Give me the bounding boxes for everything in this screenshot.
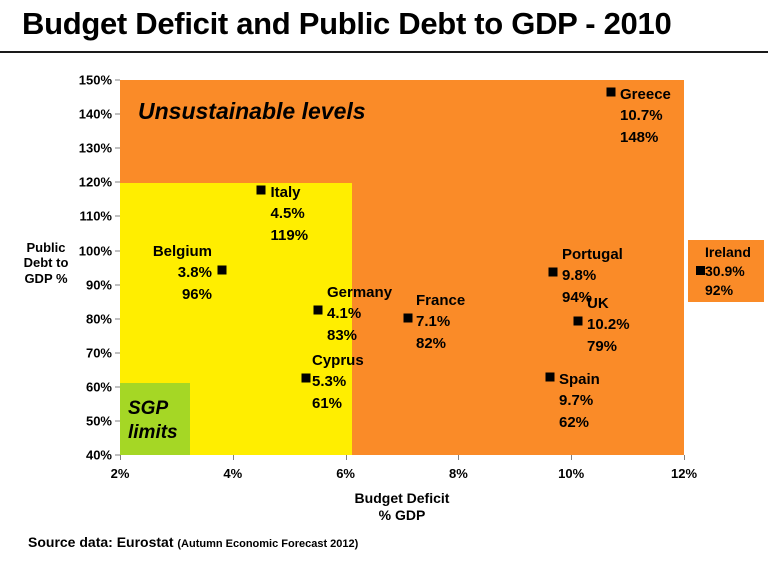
title-bar: Budget Deficit and Public Debt to GDP - … [0, 0, 768, 53]
data-label-italy: Italy 4.5% 119% [271, 182, 309, 246]
x-axis-title-line-1: Budget Deficit [355, 490, 450, 506]
data-point-germany[interactable] [314, 306, 323, 315]
data-label-ireland: Ireland 30.9% 92% [705, 243, 751, 300]
label-debt-spain: 62% [559, 412, 600, 433]
data-point-cyprus[interactable] [302, 374, 311, 383]
label-deficit-portugal: 9.8% [562, 265, 623, 286]
unsustainable-levels-label: Unsustainable levels [138, 98, 366, 125]
x-tick-mark [346, 455, 347, 460]
label-name-ireland: Ireland [705, 244, 751, 260]
label-name-france: France [416, 290, 465, 311]
label-name-germany: Germany [327, 282, 392, 303]
y-tick-label-150: 150% [79, 73, 112, 88]
label-deficit-greece: 10.7% [620, 105, 671, 126]
data-point-uk[interactable] [574, 317, 583, 326]
label-name-uk: UK [587, 293, 630, 314]
label-deficit-italy: 4.5% [271, 203, 309, 224]
label-debt-belgium: 96% [41, 284, 212, 305]
data-label-france: France 7.1% 82% [416, 290, 465, 354]
data-point-italy[interactable] [257, 186, 266, 195]
label-debt-uk: 79% [587, 336, 630, 357]
data-point-greece[interactable] [606, 88, 615, 97]
y-tick-label-50: 50% [86, 413, 112, 428]
label-debt-greece: 148% [620, 127, 671, 148]
label-deficit-cyprus: 5.3% [312, 371, 364, 392]
label-deficit-uk: 10.2% [587, 314, 630, 335]
label-deficit-ireland: 30.9% [705, 263, 745, 279]
x-tick-label-6: 6% [336, 466, 355, 481]
sgp-label-line-1: SGP [128, 398, 168, 419]
label-name-portugal: Portugal [562, 244, 623, 265]
label-debt-italy: 119% [271, 225, 309, 246]
source-sub: (Autumn Economic Forecast 2012) [177, 538, 358, 550]
data-point-portugal[interactable] [549, 268, 558, 277]
x-axis-title: Budget Deficit % GDP [120, 490, 684, 524]
x-tick-mark [684, 455, 685, 460]
data-label-spain: Spain 9.7% 62% [559, 369, 600, 433]
x-tick-label-10: 10% [558, 466, 584, 481]
data-point-france[interactable] [403, 314, 412, 323]
label-deficit-belgium: 3.8% [41, 262, 212, 283]
label-debt-germany: 83% [327, 325, 392, 346]
label-deficit-france: 7.1% [416, 311, 465, 332]
x-tick-mark [120, 455, 121, 460]
ireland-callout-box[interactable]: Ireland 30.9% 92% [688, 240, 764, 302]
x-tick-mark [571, 455, 572, 460]
plot-area: SGP limits Unsustainable levels Greece 1… [120, 80, 684, 455]
label-deficit-spain: 9.7% [559, 390, 600, 411]
data-label-cyprus: Cyprus 5.3% 61% [312, 350, 364, 414]
y-tick-label-80: 80% [86, 311, 112, 326]
x-tick-label-2: 2% [111, 466, 130, 481]
label-name-italy: Italy [271, 182, 309, 203]
x-axis: 2% 4% 6% 8% 10% 12% [120, 455, 684, 495]
y-tick-label-130: 130% [79, 141, 112, 156]
data-label-uk: UK 10.2% 79% [587, 293, 630, 357]
zone-sgp-limits: SGP limits [120, 383, 190, 455]
data-label-greece: Greece 10.7% 148% [620, 84, 671, 148]
sgp-limits-label: SGP limits [128, 397, 178, 445]
title-divider [0, 51, 768, 53]
y-tick-label-110: 110% [79, 209, 112, 224]
data-point-spain[interactable] [546, 373, 555, 382]
label-name-cyprus: Cyprus [312, 350, 364, 371]
page-title: Budget Deficit and Public Debt to GDP - … [22, 6, 671, 42]
x-tick-label-4: 4% [223, 466, 242, 481]
x-tick-mark [458, 455, 459, 460]
label-name-spain: Spain [559, 369, 600, 390]
source-note: Source data: Eurostat (Autumn Economic F… [28, 534, 358, 550]
x-tick-label-8: 8% [449, 466, 468, 481]
data-point-ireland[interactable] [696, 266, 705, 275]
y-tick-label-70: 70% [86, 345, 112, 360]
label-name-belgium: Belgium [41, 241, 212, 262]
y-tick-label-140: 140% [79, 107, 112, 122]
data-label-germany: Germany 4.1% 83% [327, 282, 392, 346]
x-tick-mark [233, 455, 234, 460]
x-axis-title-line-2: % GDP [379, 507, 426, 523]
y-tick-label-40: 40% [86, 448, 112, 463]
sgp-label-line-2: limits [128, 422, 178, 443]
data-label-belgium: Belgium 3.8% 96% [41, 241, 212, 305]
x-tick-label-12: 12% [671, 466, 697, 481]
label-debt-france: 82% [416, 333, 465, 354]
label-name-greece: Greece [620, 84, 671, 105]
label-deficit-germany: 4.1% [327, 303, 392, 324]
data-point-belgium[interactable] [217, 266, 226, 275]
label-debt-ireland: 92% [705, 282, 733, 298]
y-tick-label-120: 120% [79, 175, 112, 190]
y-tick-label-60: 60% [86, 379, 112, 394]
source-main: Source data: Eurostat [28, 534, 173, 550]
label-debt-cyprus: 61% [312, 393, 364, 414]
